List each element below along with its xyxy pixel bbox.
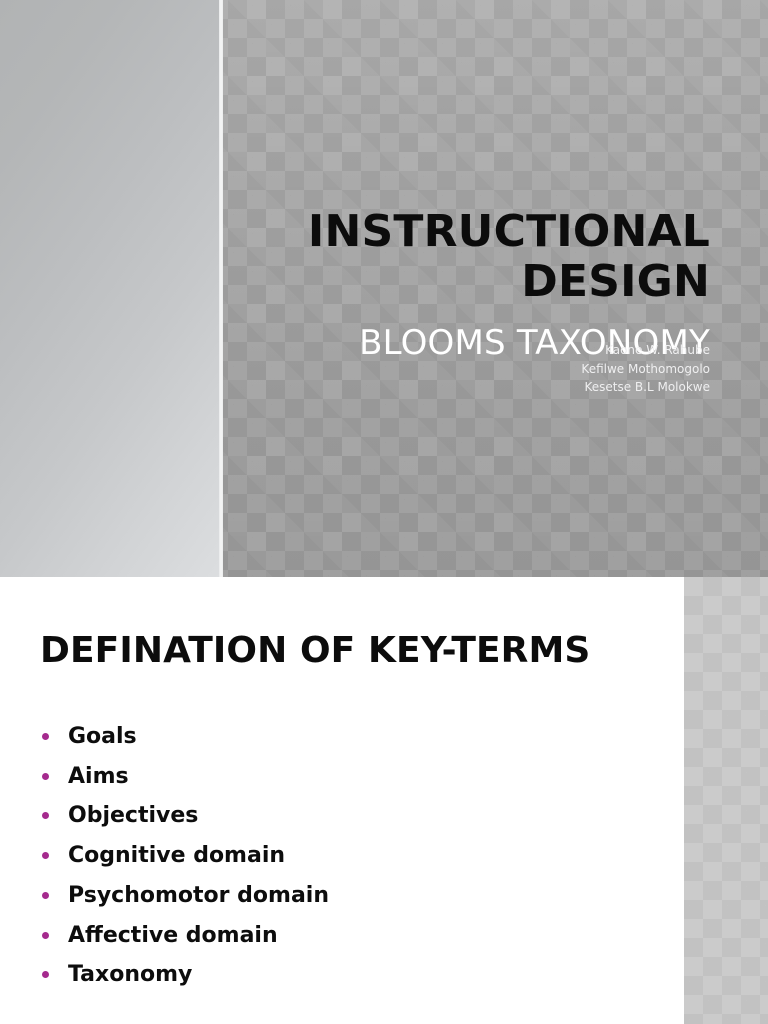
slide-1-author-list: Kaone W. Rahube Kefilwe Mothomogolo Kese… <box>250 341 710 397</box>
bullet-dot-icon <box>42 971 49 978</box>
bullet-dot-icon <box>42 733 49 740</box>
list-item: Taxonomy <box>36 955 636 995</box>
list-item: Psychomotor domain <box>36 876 636 916</box>
list-item: Goals <box>36 717 636 757</box>
slide-1-author-name: Kaone W. Rahube <box>250 341 710 360</box>
bullet-dot-icon <box>42 852 49 859</box>
list-item-label: Psychomotor domain <box>68 883 329 908</box>
slide-1-title: INSTRUCTIONAL DESIGN <box>250 207 710 306</box>
slide-document-page: INSTRUCTIONAL DESIGN BLOOMS TAXONOMY Kao… <box>0 0 768 1024</box>
bullet-dot-icon <box>42 892 49 899</box>
list-item: Affective domain <box>36 916 636 956</box>
list-item-label: Goals <box>68 724 137 749</box>
list-item-label: Taxonomy <box>68 962 192 987</box>
slide-2: DEFINATION OF KEY-TERMS Goals Aims Objec… <box>0 577 768 1024</box>
list-item: Aims <box>36 757 636 797</box>
list-item-label: Cognitive domain <box>68 843 285 868</box>
list-item-label: Affective domain <box>68 923 278 948</box>
list-item-label: Aims <box>68 764 129 789</box>
slide-1-content-area: INSTRUCTIONAL DESIGN BLOOMS TAXONOMY Kao… <box>223 0 768 577</box>
list-item: Objectives <box>36 796 636 836</box>
slide-1-author-name: Kesetse B.L Molokwe <box>250 378 710 397</box>
slide-1: INSTRUCTIONAL DESIGN BLOOMS TAXONOMY Kao… <box>0 0 768 577</box>
slide-2-content-area: DEFINATION OF KEY-TERMS Goals Aims Objec… <box>0 577 684 1024</box>
slide-1-left-gradient-panel <box>0 0 223 577</box>
slide-2-bullet-list: Goals Aims Objectives Cognitive domain P… <box>36 717 636 995</box>
slide-2-diamond-pattern-strip <box>684 577 768 1024</box>
list-item: Cognitive domain <box>36 836 636 876</box>
slide-2-title: DEFINATION OF KEY-TERMS <box>40 628 600 674</box>
bullet-dot-icon <box>42 773 49 780</box>
bullet-dot-icon <box>42 812 49 819</box>
slide-1-author-name: Kefilwe Mothomogolo <box>250 360 710 379</box>
bullet-dot-icon <box>42 932 49 939</box>
list-item-label: Objectives <box>68 803 198 828</box>
